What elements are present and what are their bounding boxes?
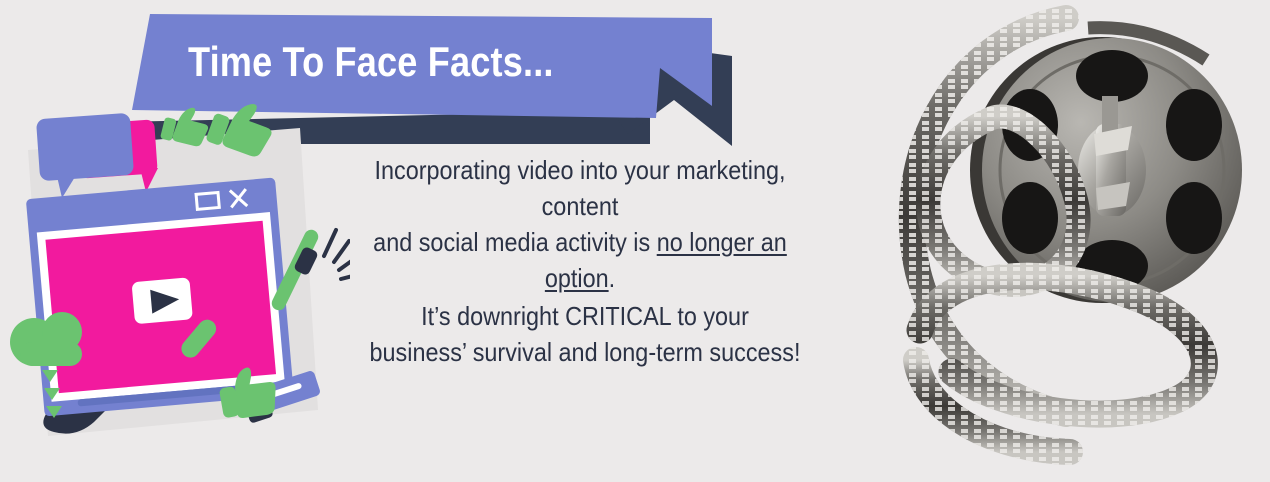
headline-text-tail: . xyxy=(609,263,616,293)
cloud-icon xyxy=(10,312,82,366)
film-reel-disc xyxy=(970,28,1242,303)
page-title: Time To Face Facts... xyxy=(188,38,592,86)
headline-paragraph-secondary: It’s downright CRITICAL to your business… xyxy=(369,298,801,370)
infographic-canvas: Time To Face Facts... Incorporating vide… xyxy=(0,0,1270,482)
play-button-icon[interactable] xyxy=(131,277,192,324)
headline-paragraph-primary: Incorporating video into your marketing,… xyxy=(355,152,805,296)
video-marketing-illustration xyxy=(0,80,350,480)
sound-lines xyxy=(324,230,350,279)
film-reel-photo xyxy=(880,0,1270,482)
video-player-window xyxy=(26,177,294,416)
